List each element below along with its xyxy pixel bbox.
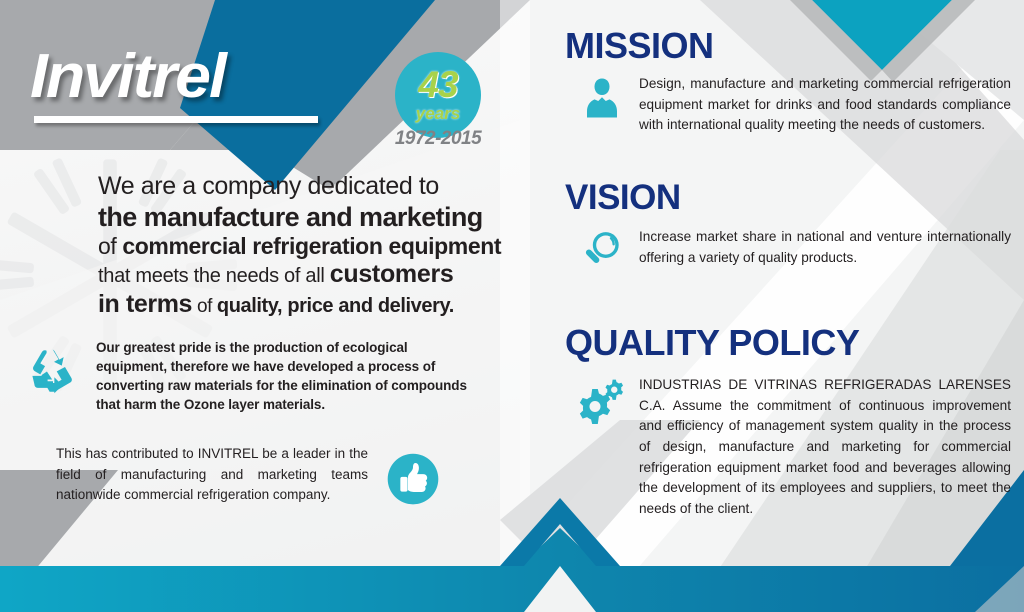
leadership-text: This has contributed to INVITREL be a le…	[56, 444, 368, 506]
intro-line-5-bold: in terms	[98, 290, 192, 318]
person-icon	[565, 74, 639, 136]
vision-heading: VISION	[565, 180, 1024, 215]
quality-policy-body: INDUSTRIAS DE VITRINAS REFRIGERADAS LARE…	[565, 375, 1024, 520]
intro-line-4: that meets the needs of all customers	[98, 260, 498, 290]
mission-text: Design, manufacture and marketing commer…	[639, 74, 1011, 136]
right-column: MISSION Design, manufacture and marketin…	[520, 0, 1024, 612]
badge-number: 43	[418, 68, 457, 102]
intro-line-5: in terms of quality, price and delivery.	[98, 290, 498, 320]
vision-body: Increase market share in national and ve…	[565, 227, 1024, 275]
intro-line-3: of commercial refrigeration equipment	[98, 233, 498, 260]
thumbs-up-icon	[386, 452, 440, 506]
eco-text: Our greatest pride is the production of …	[96, 338, 468, 415]
intro-line-3-light: of	[98, 233, 122, 259]
vision-text: Increase market share in national and ve…	[639, 227, 1011, 275]
leadership-block: This has contributed to INVITREL be a le…	[56, 444, 486, 506]
section-mission: MISSION Design, manufacture and marketin…	[565, 28, 1024, 136]
intro-statement: We are a company dedicated to the manufa…	[98, 172, 498, 319]
badge-year-range: 1972-2015	[385, 128, 491, 150]
brand-logo: Invitrel	[30, 46, 330, 124]
intro-line-2: the manufacture and marketing	[98, 202, 498, 234]
mission-heading: MISSION	[565, 28, 1024, 64]
logo-underline	[34, 116, 318, 123]
recycle-icon	[26, 344, 80, 398]
quality-policy-text: INDUSTRIAS DE VITRINAS REFRIGERADAS LARE…	[639, 375, 1011, 520]
anniversary-badge: 43 years	[395, 52, 481, 138]
eco-block: Our greatest pride is the production of …	[26, 338, 486, 415]
intro-line-3-bold: commercial refrigeration equipment	[122, 233, 501, 259]
intro-line-4-bold: customers	[330, 260, 454, 288]
gears-icon	[565, 375, 639, 520]
badge-unit: years	[416, 105, 460, 122]
left-column: Invitrel 43 years 1972-2015 We are a com…	[0, 0, 520, 612]
section-quality-policy: QUALITY POLICY INDUSTRIAS DE VITR	[565, 325, 1024, 520]
infographic-poster: Invitrel 43 years 1972-2015 We are a com…	[0, 0, 1024, 612]
intro-line-5-bold2: quality, price and delivery.	[217, 295, 454, 317]
quality-policy-heading: QUALITY POLICY	[565, 325, 1024, 361]
intro-line-4-light: that meets the needs of all	[98, 265, 330, 287]
intro-line-5-light: of	[192, 296, 217, 317]
intro-line-1: We are a company dedicated to	[98, 172, 498, 202]
logo-text: Invitrel	[30, 46, 342, 108]
section-vision: VISION Increase market share in national…	[565, 180, 1024, 275]
mission-body: Design, manufacture and marketing commer…	[565, 74, 1024, 136]
magnifier-icon	[565, 227, 639, 275]
